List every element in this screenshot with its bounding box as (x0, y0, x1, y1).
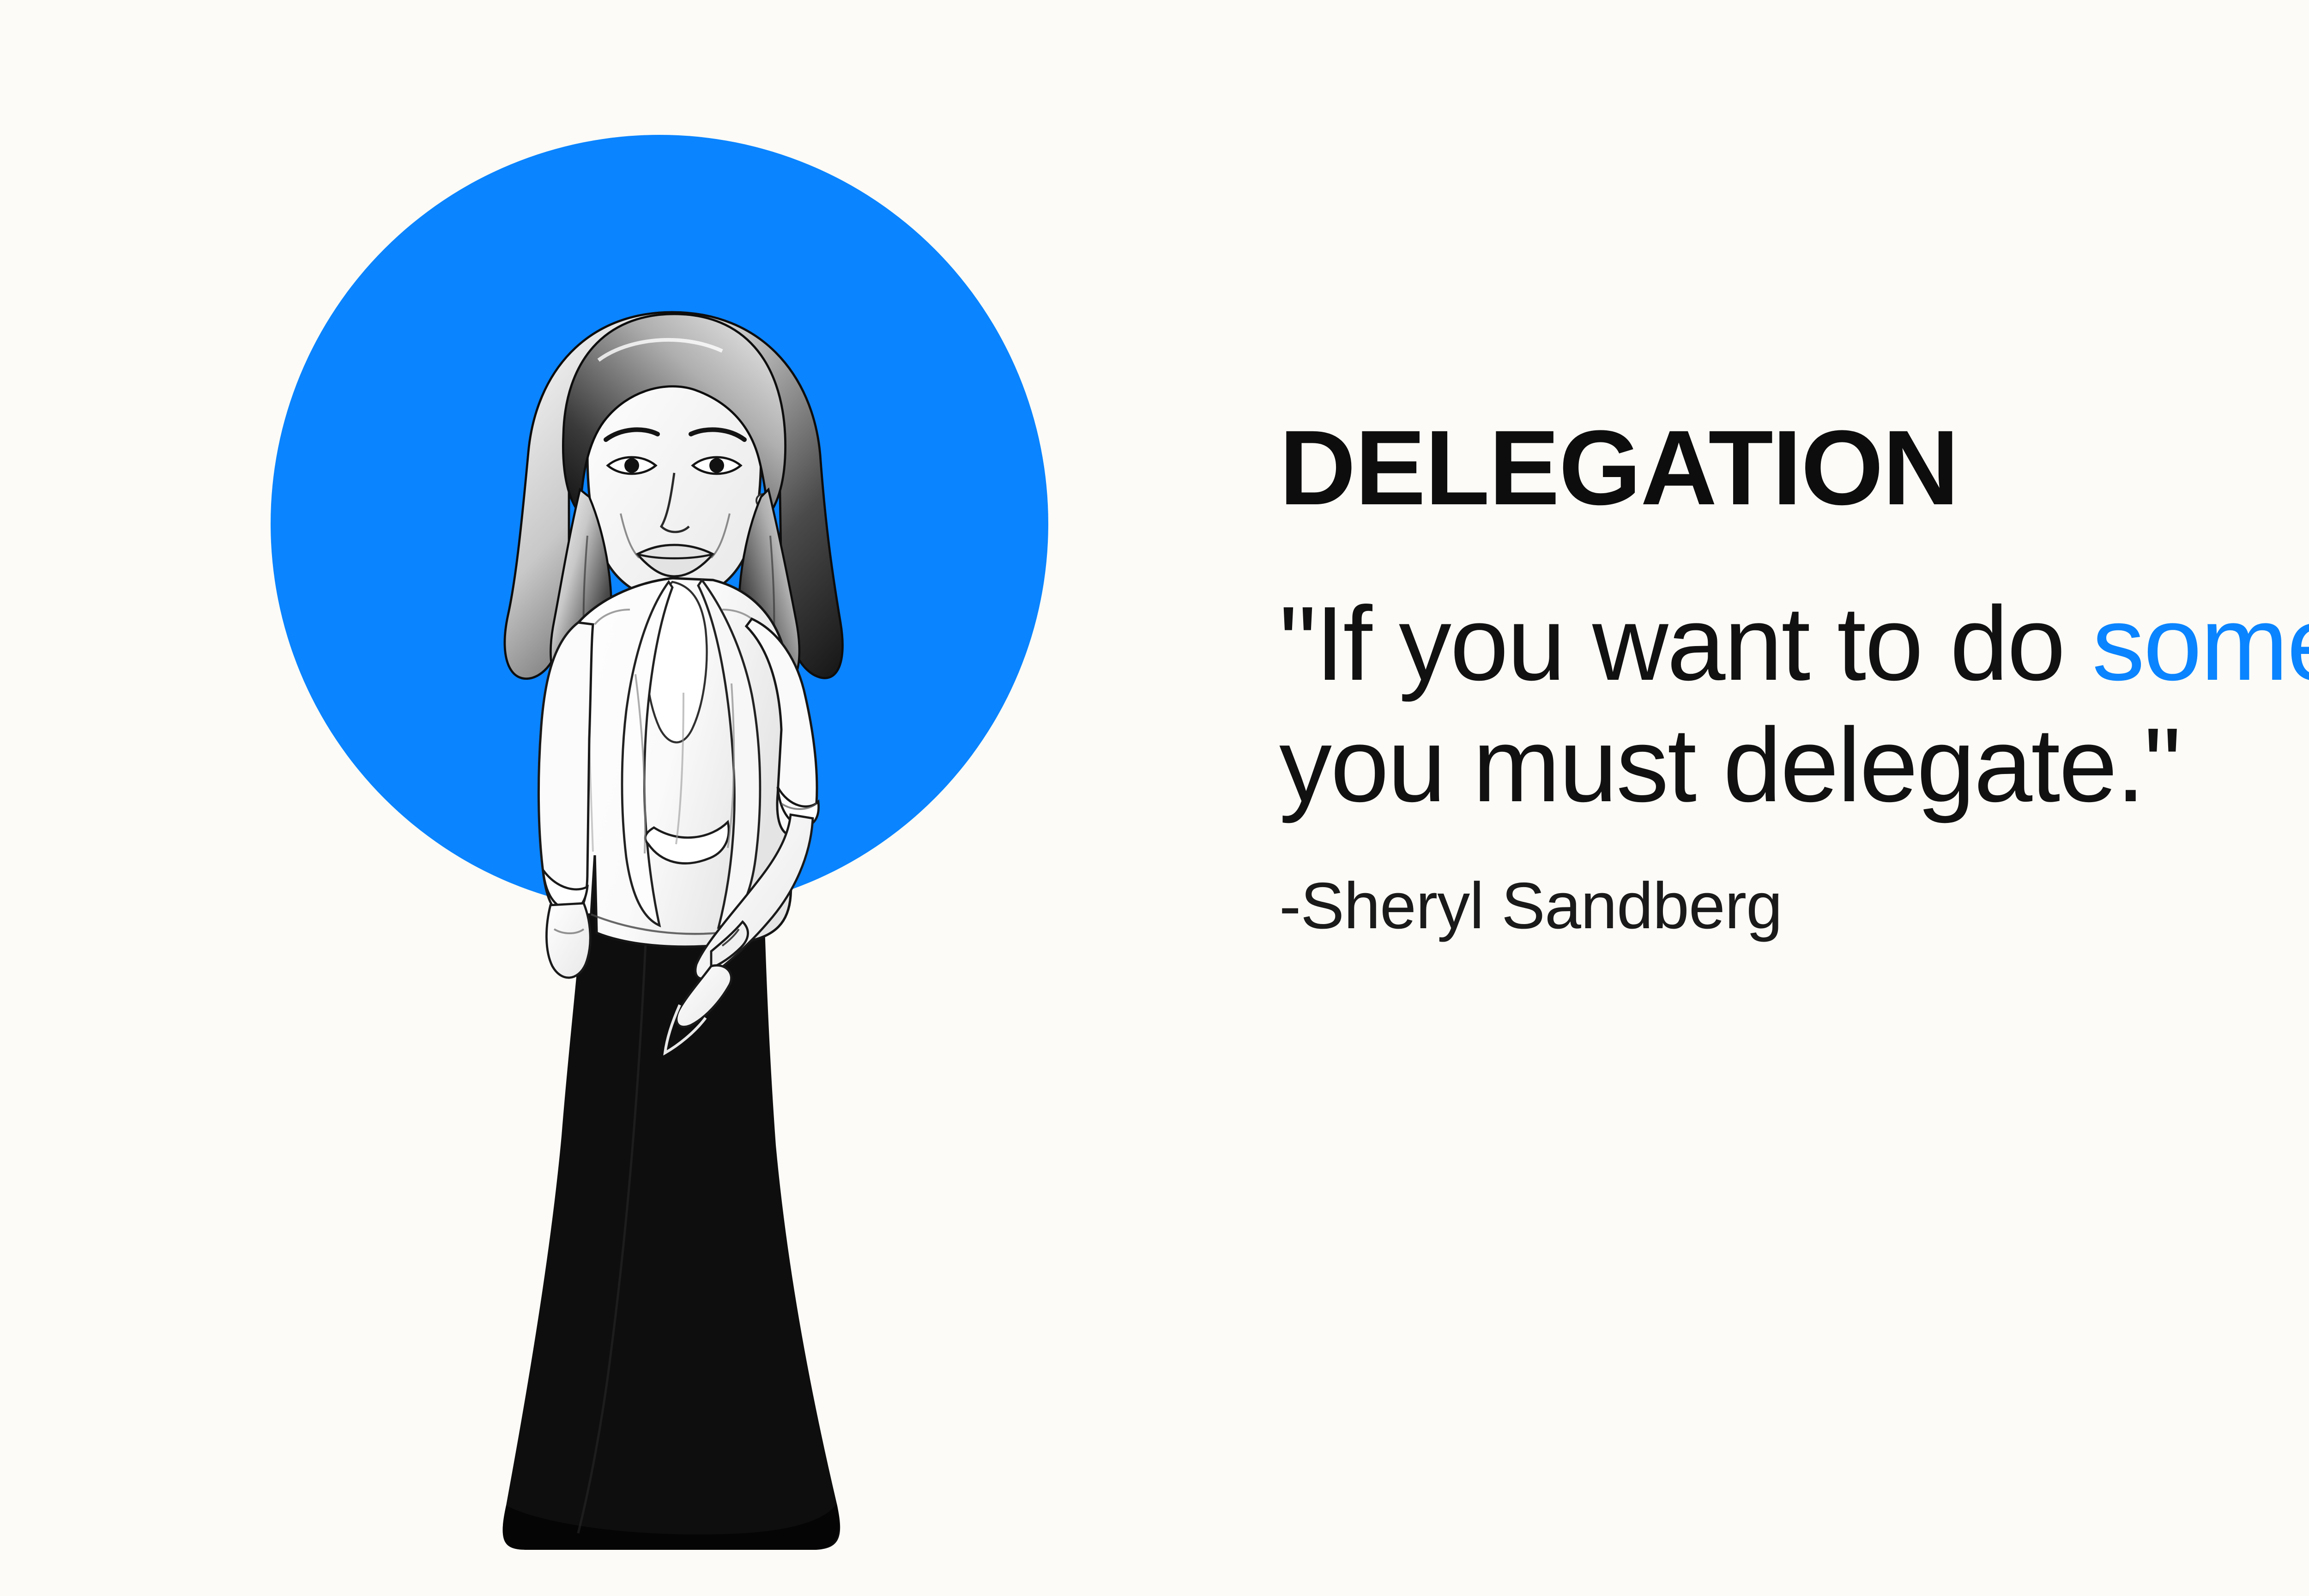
page-title: DELEGATION (1279, 416, 2309, 520)
quote-text: "If you want to do something big, you mu… (1279, 583, 2309, 825)
quote-line1-before: "If you want to do (1279, 585, 2092, 702)
quote-line2: you must delegate." (1279, 705, 2309, 826)
portrait-illustration (0, 0, 1247, 1596)
quote-attribution: -Sheryl Sandberg (1279, 868, 2309, 944)
businesswoman-illustration (406, 305, 942, 1552)
text-column: DELEGATION "If you want to do something … (1279, 416, 2309, 944)
left-arm (538, 623, 593, 978)
quote-card: DELEGATION "If you want to do something … (0, 0, 2309, 1596)
quote-highlight: something big (2092, 585, 2309, 702)
